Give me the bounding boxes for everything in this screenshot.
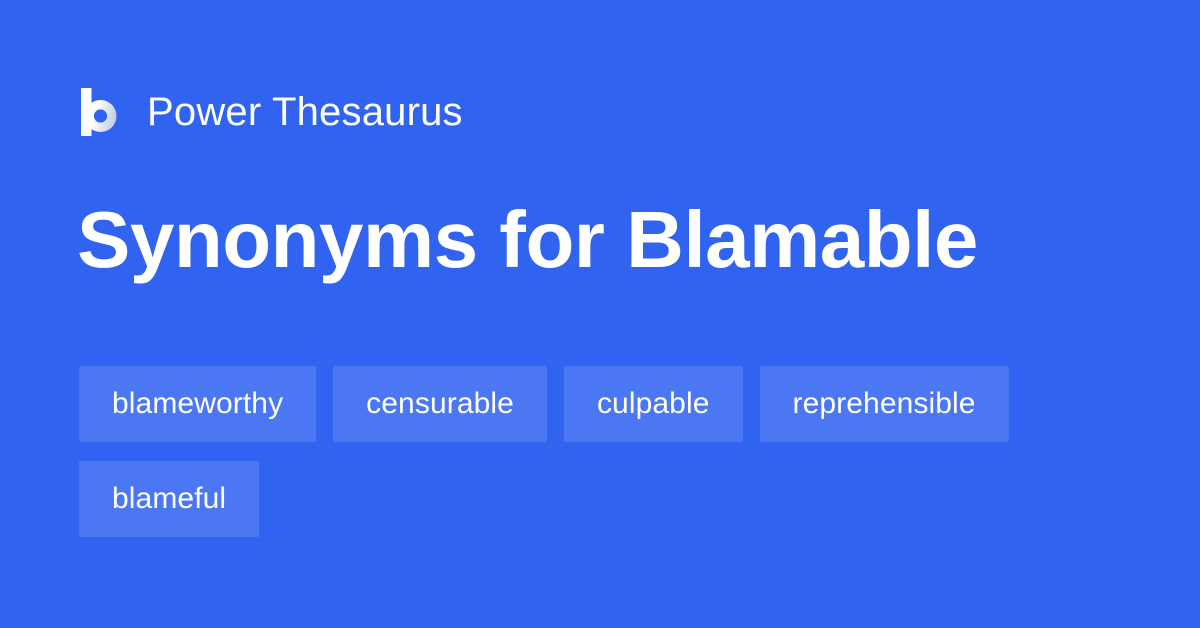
synonym-chip[interactable]: blameful bbox=[79, 461, 259, 537]
synonym-chip[interactable]: censurable bbox=[333, 366, 547, 442]
synonym-list: blameworthy censurable culpable reprehen… bbox=[79, 366, 1129, 537]
synonyms-share-card: power thesaurus Synonyms for Blamable bl… bbox=[0, 0, 1200, 628]
power-thesaurus-logo-icon bbox=[79, 86, 119, 138]
brand-header[interactable]: power thesaurus bbox=[79, 82, 463, 142]
synonym-chip[interactable]: reprehensible bbox=[760, 366, 1009, 442]
synonym-chip[interactable]: blameworthy bbox=[79, 366, 316, 442]
synonym-chip[interactable]: culpable bbox=[564, 366, 743, 442]
brand-name: power thesaurus bbox=[147, 92, 463, 132]
page-title: Synonyms for Blamable bbox=[77, 198, 978, 283]
